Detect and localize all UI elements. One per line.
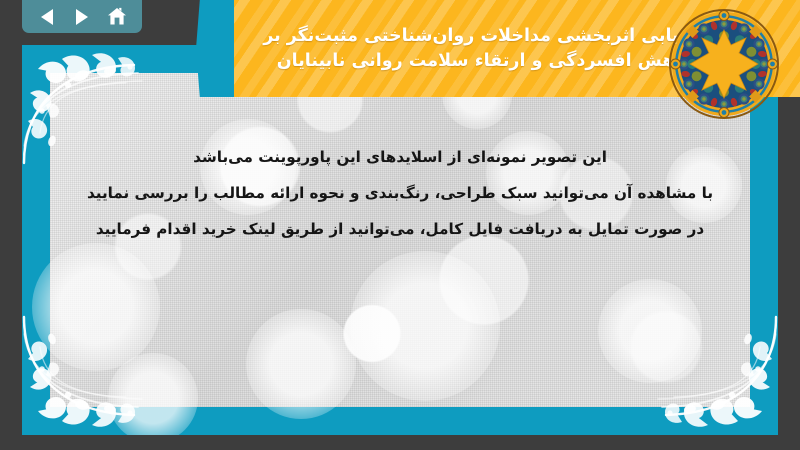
navigation-bar [22, 0, 142, 33]
forward-button[interactable] [68, 5, 96, 29]
back-button[interactable] [33, 5, 61, 29]
body-line: در صورت تمایل به دریافت فایل کامل، می‌تو… [72, 212, 728, 248]
body-line: این تصویر نمونه‌ای از اسلایدهای این پاور… [72, 140, 728, 176]
body-line: با مشاهده آن می‌توانید سبک طراحی، رنگ‌بن… [72, 176, 728, 212]
bokeh-circle [32, 243, 160, 371]
forward-triangle-icon [73, 8, 90, 26]
banner-arrow-tab [196, 0, 234, 97]
slide-card: این تصویر نمونه‌ای از اسلایدهای این پاور… [22, 45, 778, 435]
home-button[interactable] [103, 5, 131, 29]
back-triangle-icon [39, 8, 56, 26]
home-icon [107, 7, 127, 26]
bokeh-circle [108, 353, 198, 435]
slide-root: این تصویر نمونه‌ای از اسلایدهای این پاور… [0, 0, 800, 450]
bokeh-circle [598, 279, 702, 383]
bokeh-circle [350, 251, 500, 401]
slide-body-text: این تصویر نمونه‌ای از اسلایدهای این پاور… [72, 140, 728, 248]
bokeh-circle [246, 309, 356, 419]
persian-medallion-icon [668, 8, 780, 120]
